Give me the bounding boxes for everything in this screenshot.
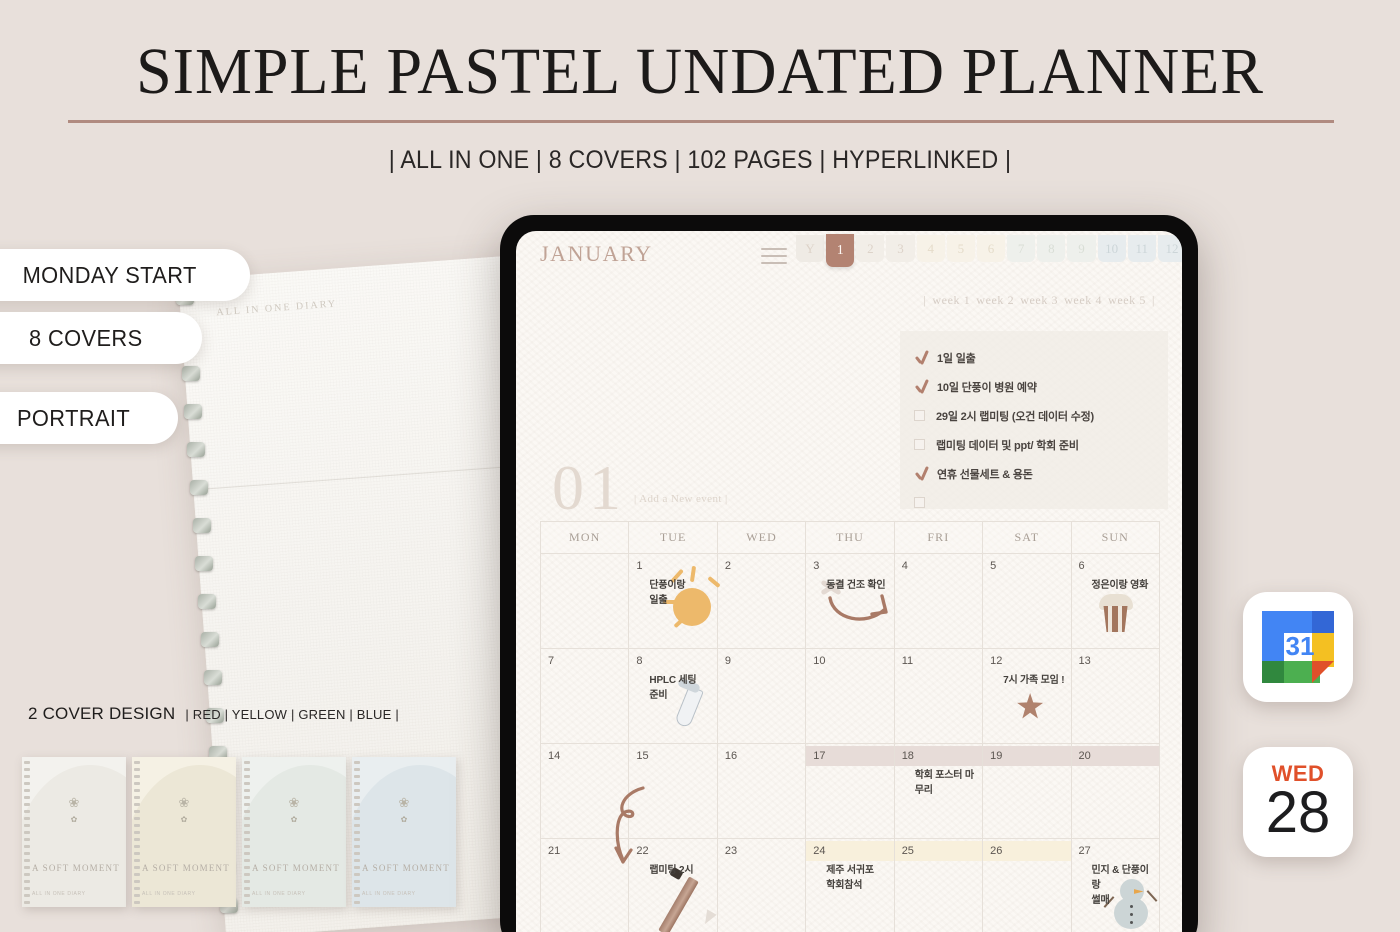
day-number: 17 [813,750,825,762]
cover-spiral-binding [134,761,140,903]
google-calendar-app-icon[interactable]: 31 [1243,592,1353,702]
month-tab-4[interactable]: 4 [917,235,945,262]
month-tab-1[interactable]: 1 [826,234,854,267]
cover-title: A SOFT MOMENT [142,863,230,873]
month-tab-11[interactable]: 11 [1128,235,1156,262]
checkmark-icon[interactable] [914,350,929,365]
add-new-event-link[interactable]: | Add a New event | [634,493,728,505]
month-tab-2[interactable]: 2 [856,235,884,262]
calendar-day-cell[interactable]: 9 [717,649,805,744]
notebook-ring [193,518,211,533]
gcal-day-number: 31 [1280,631,1320,662]
cover-spiral-binding [354,761,360,903]
badge-8-covers: 8 COVERS [0,312,202,364]
week-link-5[interactable]: week 5 [1108,293,1146,307]
weekday-header-sat: SAT [983,522,1071,554]
day-number: 2 [725,560,731,572]
day-number: 1 [636,560,642,572]
calendar-day-cell[interactable]: 10 [806,649,894,744]
weekday-header-tue: TUE [629,522,717,554]
notebook-ring [195,556,213,571]
page-title: SIMPLE PASTEL UNDATED PLANNER [21,34,1379,110]
calendar-day-cell[interactable]: 6정은이랑 영화 [1071,554,1159,649]
cover-thumbnail-red[interactable]: ❀✿A SOFT MOMENTALL IN ONE DIARY [22,757,126,907]
day-number: 12 [990,655,1002,667]
hamburger-menu-icon[interactable] [761,248,787,269]
cover-wave-shape [242,765,346,907]
notebook-ring [201,632,219,647]
day-event-text: 동결 건조 확인 [826,578,887,593]
month-tab-10[interactable]: 10 [1098,235,1126,262]
cover-design-title: 2 COVER DESIGN [28,704,175,723]
week-link-2[interactable]: week 2 [976,293,1014,307]
app-top-bar: JANUARY Y123456789101112 [516,231,1182,277]
calendar-day-cell[interactable]: 7 [541,649,629,744]
week-link-3[interactable]: week 3 [1020,293,1058,307]
calendar-day-cell[interactable] [541,554,629,649]
day-number: 14 [548,750,560,762]
tablet-device: JANUARY Y123456789101112 |week 1week 2we… [500,215,1198,932]
month-tab-3[interactable]: 3 [886,235,914,262]
month-tab-strip: Y123456789101112 [796,235,1182,262]
calendar-day-cell[interactable]: 17 [806,744,894,839]
flower-icon: ❀ [399,795,410,811]
notebook-ring [204,670,222,685]
badge-label: MONDAY START [23,262,197,289]
calendar-day-cell[interactable]: 24제주 서귀포학회참석 [806,839,894,932]
day-number: 10 [813,655,825,667]
checkbox-icon[interactable] [914,497,925,508]
checkmark-icon[interactable] [914,466,929,481]
apple-calendar-app-icon[interactable]: WED 28 [1243,747,1353,857]
day-event-text: 민지 & 단풍이랑썰매 [1092,863,1153,908]
badge-portrait: PORTRAIT [0,392,178,444]
day-number: 3 [813,560,819,572]
day-number: 21 [548,845,560,857]
calendar-day-cell[interactable]: 127시 가족 모임 ! [983,649,1071,744]
notebook-ring [190,480,208,495]
todo-row[interactable]: 랩미팅 데이터 및 ppt/ 학회 준비 [914,430,1154,459]
cover-wave-shape [352,765,456,907]
notebook-ring [182,366,200,381]
badge-monday-start: MONDAY START [0,249,250,301]
checkbox-icon[interactable] [914,410,925,421]
todo-row[interactable] [914,488,1154,517]
checkmark-icon[interactable] [914,379,929,394]
checkbox-icon[interactable] [914,439,925,450]
day-number: 5 [990,560,996,572]
calendar-day-cell[interactable]: 11 [894,649,982,744]
gcal-dark-blue [1312,611,1334,633]
calendar-header-row: MONTUEWEDTHUFRISATSUN [541,522,1160,554]
cover-spiral-binding [244,761,250,903]
day-number: 4 [902,560,908,572]
month-tab-y[interactable]: Y [796,235,824,262]
day-number: 23 [725,845,737,857]
calendar-day-cell[interactable]: 5 [983,554,1071,649]
notebook-ring [198,594,216,609]
weekday-header-fri: FRI [894,522,982,554]
gcal-dark-green [1262,661,1284,683]
day-number: 19 [990,750,1002,762]
cover-footer: ALL IN ONE DIARY [142,891,196,897]
day-number: 7 [548,655,554,667]
badge-label: 8 COVERS [29,325,143,352]
star-shape [1017,693,1043,719]
cover-footer: ALL IN ONE DIARY [32,891,86,897]
day-event-text: 정은이랑 영화 [1092,578,1153,593]
weekday-header-mon: MON [541,522,629,554]
flower-icon: ❀ [289,795,300,811]
day-number: 24 [813,845,825,857]
day-event-text: HPLC 세팅준비 [649,673,710,703]
leaf-icon: ✿ [291,815,298,824]
weekday-header-wed: WED [717,522,805,554]
day-event-text: 랩미팅 2시 [649,863,710,878]
week-link-4[interactable]: week 4 [1064,293,1102,307]
cover-spiral-binding [24,761,30,903]
day-number: 26 [990,845,1002,857]
cover-title: A SOFT MOMENT [252,863,340,873]
calendar-day-cell[interactable]: 25 [894,839,982,932]
todo-row[interactable]: 연휴 선물세트 & 용돈 [914,459,1154,488]
flower-icon: ❀ [69,795,80,811]
day-event-text: 학회 포스터 마무리 [915,768,976,798]
calendar-day-cell[interactable]: 13 [1071,649,1159,744]
day-number: 6 [1079,560,1085,572]
cover-title: A SOFT MOMENT [362,863,450,873]
month-number: 01 [552,456,626,520]
day-number: 22 [636,845,648,857]
day-number: 15 [636,750,648,762]
pencil-body [659,876,700,932]
todo-row[interactable]: 29일 2시 랩미팅 (오건 데이터 수정) [914,401,1154,430]
calendar-week-row: 1단풍이랑일출23동결 건조 확인456정은이랑 영화 [541,554,1160,649]
todo-label: 29일 2시 랩미팅 (오건 데이터 수정) [936,408,1094,424]
calendar-day-cell[interactable]: 18학회 포스터 마무리 [894,744,982,839]
calendar-day-cell[interactable]: 2 [717,554,805,649]
calendar-week-row: 2122랩미팅 2시2324제주 서귀포학회참석252627민지 & 단풍이랑썰… [541,839,1160,932]
month-tab-5[interactable]: 5 [947,235,975,262]
calendar-week-row: 1415161718학회 포스터 마무리1920 [541,744,1160,839]
month-tab-7[interactable]: 7 [1007,235,1035,262]
todo-row[interactable]: 1일 일출 [914,343,1154,372]
month-title: JANUARY [540,241,653,267]
calendar-day-cell[interactable]: 3동결 건조 확인 [806,554,894,649]
todo-label: 10일 단풍이 병원 예약 [937,379,1037,395]
cover-thumbnail-blue[interactable]: ❀✿A SOFT MOMENTALL IN ONE DIARY [352,757,456,907]
day-number: 11 [902,655,913,667]
tablet-screen: JANUARY Y123456789101112 |week 1week 2we… [516,231,1182,932]
cover-design-heading: 2 COVER DESIGN| RED | YELLOW | GREEN | B… [28,704,399,724]
calendar-day-cell[interactable]: 15 [629,744,717,839]
page-subtitle: | ALL IN ONE | 8 COVERS | 102 PAGES | HY… [49,146,1351,175]
todo-label: 1일 일출 [937,350,976,366]
cover-thumbnail-yellow[interactable]: ❀✿A SOFT MOMENTALL IN ONE DIARY [132,757,236,907]
popcorn-cup [1101,606,1131,632]
calendar-day-cell[interactable]: 20 [1071,744,1159,839]
cover-wave-shape [132,765,236,907]
curved-arrow-icon [828,592,908,632]
notebook-ring [187,442,205,457]
calendar-day-cell[interactable]: 16 [717,744,805,839]
calendar-week-row: 78HPLC 세팅준비91011127시 가족 모임 !13 [541,649,1160,744]
cover-footer: ALL IN ONE DIARY [362,891,416,897]
title-divider [68,120,1334,123]
todo-panel: 1일 일출10일 단풍이 병원 예약29일 2시 랩미팅 (오건 데이터 수정)… [900,331,1168,509]
day-number: 16 [725,750,737,762]
month-tab-6[interactable]: 6 [977,235,1005,262]
cover-thumbnail-green[interactable]: ❀✿A SOFT MOMENTALL IN ONE DIARY [242,757,346,907]
leaf-icon: ✿ [71,815,78,824]
week-links: |week 1week 2week 3week 4week 5| [920,293,1158,308]
leaf-icon: ✿ [401,815,408,824]
calendar-day-cell[interactable]: 8HPLC 세팅준비 [629,649,717,744]
weekday-header-sun: SUN [1071,522,1159,554]
cover-title: A SOFT MOMENT [32,863,120,873]
notebook-paper-label: ALL IN ONE DIARY [216,298,337,318]
day-event-text: 단풍이랑일출 [649,578,710,608]
day-number: 20 [1079,750,1091,762]
day-number: 9 [725,655,731,667]
apple-calendar-day-number: 28 [1266,783,1331,844]
calendar-day-cell[interactable]: 27민지 & 단풍이랑썰매 [1071,839,1159,932]
calendar-day-cell[interactable]: 22랩미팅 2시 [629,839,717,932]
month-tab-9[interactable]: 9 [1067,235,1095,262]
day-number: 18 [902,750,914,762]
monthly-calendar-grid: MONTUEWEDTHUFRISATSUN 1단풍이랑일출23동결 건조 확인4… [540,521,1160,932]
calendar-day-cell[interactable]: 26 [983,839,1071,932]
cover-footer: ALL IN ONE DIARY [252,891,306,897]
day-number: 25 [902,845,914,857]
notebook-ring [184,404,202,419]
snowman-button [1130,913,1133,916]
todo-label: 연휴 선물세트 & 용돈 [937,466,1033,482]
badge-label: PORTRAIT [17,405,130,432]
flower-icon: ❀ [179,795,190,811]
calendar-day-cell[interactable]: 19 [983,744,1071,839]
day-number: 27 [1079,845,1091,857]
day-event-text: 7시 가족 모임 ! [1003,673,1064,688]
cover-design-colors: | RED | YELLOW | GREEN | BLUE | [185,707,399,722]
cover-wave-shape [22,765,126,907]
pencil-tip [701,909,718,927]
day-number: 8 [636,655,642,667]
leaf-icon: ✿ [181,815,188,824]
todo-row[interactable]: 10일 단풍이 병원 예약 [914,372,1154,401]
day-number: 13 [1079,655,1091,667]
calendar-day-cell[interactable]: 1단풍이랑일출 [629,554,717,649]
gcal-glyph: 31 [1262,611,1334,683]
cover-thumbnails: ❀✿A SOFT MOMENTALL IN ONE DIARY❀✿A SOFT … [22,757,492,907]
day-event-text: 제주 서귀포학회참석 [826,863,887,893]
todo-label: 랩미팅 데이터 및 ppt/ 학회 준비 [936,437,1079,453]
month-tab-8[interactable]: 8 [1037,235,1065,262]
week-link-1[interactable]: week 1 [932,293,970,307]
month-tab-12[interactable]: 12 [1158,235,1182,262]
snowman-button [1130,921,1133,924]
calendar-day-cell[interactable]: 23 [717,839,805,932]
weekday-header-thu: THU [806,522,894,554]
